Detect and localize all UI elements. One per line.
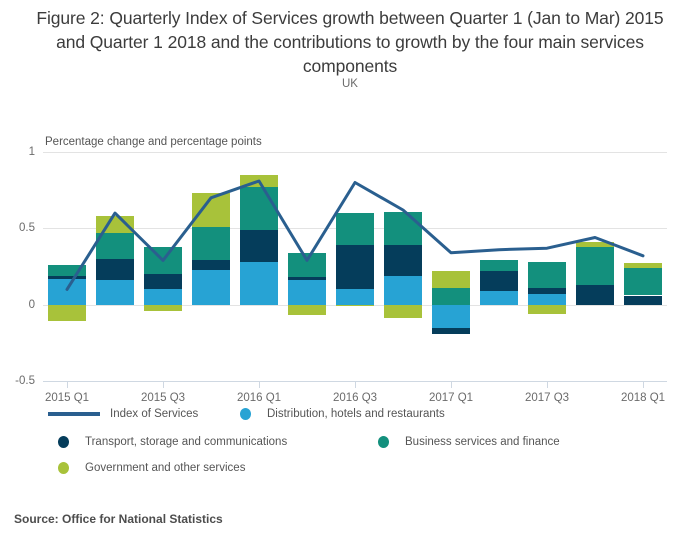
legend-line-swatch-icon bbox=[48, 412, 100, 416]
legend-item-label: Transport, storage and communications bbox=[85, 436, 287, 448]
legend-item-business-services-finance[interactable]: Business services and finance bbox=[378, 436, 560, 448]
y-axis-tick-label: 0.5 bbox=[19, 222, 35, 234]
x-axis-tick-mark bbox=[643, 381, 644, 388]
index-of-services-line bbox=[43, 152, 667, 381]
y-axis-tick-label: -0.5 bbox=[15, 375, 35, 387]
chart-subtitle: UK bbox=[0, 78, 700, 90]
x-axis: 2015 Q12015 Q32016 Q12016 Q32017 Q12017 … bbox=[43, 381, 667, 399]
x-axis-tick-mark bbox=[451, 381, 452, 388]
x-axis-tick-mark bbox=[163, 381, 164, 388]
legend-item-label: Business services and finance bbox=[405, 436, 560, 448]
legend-dot-swatch-icon bbox=[378, 436, 389, 448]
legend-item-label: Distribution, hotels and restaurants bbox=[267, 408, 445, 420]
y-axis-tick-label: 0 bbox=[29, 299, 35, 311]
chart-legend: Index of ServicesDistribution, hotels an… bbox=[0, 398, 700, 482]
page-title: Figure 2: Quarterly Index of Services gr… bbox=[20, 6, 680, 78]
legend-item-government-and-other-services[interactable]: Government and other services bbox=[58, 462, 245, 474]
legend-item-label: Government and other services bbox=[85, 462, 245, 474]
legend-item-index-of-services[interactable]: Index of Services bbox=[48, 408, 198, 420]
y-axis-tick-label: 1 bbox=[29, 146, 35, 158]
chart-canvas: 10.50-0.5 2015 Q12015 Q32016 Q12016 Q320… bbox=[43, 152, 667, 381]
legend-dot-swatch-icon bbox=[58, 436, 69, 448]
legend-dot-swatch-icon bbox=[240, 408, 251, 420]
legend-item-label: Index of Services bbox=[110, 408, 198, 420]
y-axis-note: Percentage change and percentage points bbox=[45, 136, 262, 148]
legend-item-distribution-hotels-restaurants[interactable]: Distribution, hotels and restaurants bbox=[240, 408, 445, 420]
index-of-services-polyline bbox=[67, 181, 643, 289]
source-note: Source: Office for National Statistics bbox=[14, 512, 223, 526]
x-axis-tick-mark bbox=[67, 381, 68, 388]
legend-item-transport-storage-communications[interactable]: Transport, storage and communications bbox=[58, 436, 287, 448]
plot-area: Percentage change and percentage points … bbox=[0, 130, 700, 370]
x-axis-tick-mark bbox=[259, 381, 260, 388]
figure-container: Figure 2: Quarterly Index of Services gr… bbox=[0, 0, 700, 549]
x-axis-tick-mark bbox=[355, 381, 356, 388]
x-axis-tick-mark bbox=[547, 381, 548, 388]
legend-dot-swatch-icon bbox=[58, 462, 69, 474]
